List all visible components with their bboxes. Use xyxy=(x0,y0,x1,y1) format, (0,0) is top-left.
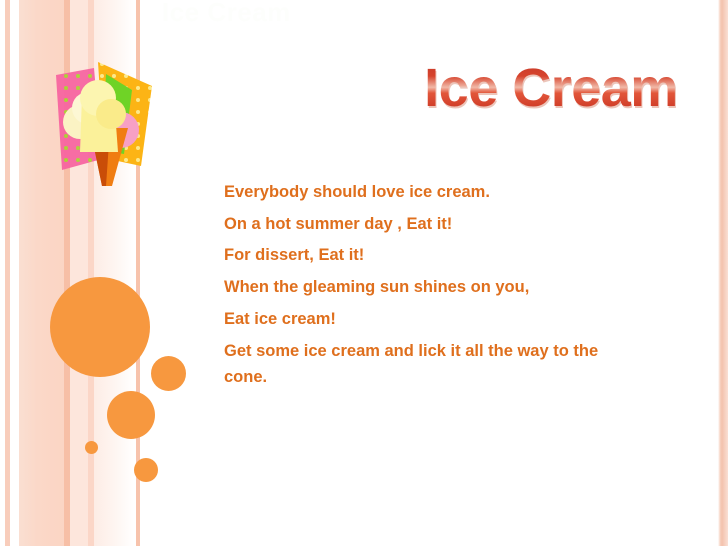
poem-line: Everybody should love ice cream. xyxy=(224,179,644,206)
circle-small xyxy=(134,458,158,482)
circle-large xyxy=(50,277,150,377)
stripe-1 xyxy=(5,0,10,546)
slide-canvas: Ice Cream Ice Cream Everybody should lov… xyxy=(0,0,728,546)
poem-line: On a hot summer day , Eat it! xyxy=(224,211,644,238)
circle-medium xyxy=(151,356,186,391)
circle-mid xyxy=(107,391,155,439)
faint-watermark-title: Ice Cream xyxy=(162,0,291,28)
page-title: Ice Cream xyxy=(406,60,696,117)
circle-tiny xyxy=(85,441,98,454)
poem-body: Everybody should love ice cream. On a ho… xyxy=(224,179,644,391)
poem-line: Eat ice cream! xyxy=(224,306,644,333)
poem-line: Get some ice cream and lick it all the w… xyxy=(224,338,644,391)
right-edge-stripe-2 xyxy=(722,0,728,546)
ice-cream-cone-icon xyxy=(36,58,160,186)
poem-line: When the gleaming sun shines on you, xyxy=(224,274,644,301)
poem-line: For dissert, Eat it! xyxy=(224,242,644,269)
